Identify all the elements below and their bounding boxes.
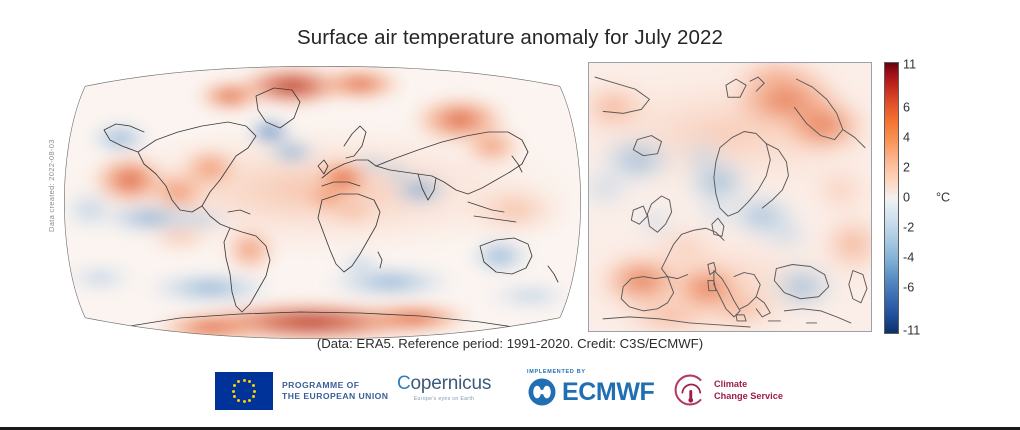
eu-star	[243, 400, 246, 403]
eu-programme-logo: PROGRAMME OF THE EUROPEAN UNION	[215, 372, 388, 410]
eu-flag-icon	[215, 372, 273, 410]
eu-star	[252, 384, 255, 387]
copernicus-name-text: opernicus	[411, 373, 492, 394]
colorbar-gradient	[884, 62, 899, 334]
global-anomaly-map	[60, 60, 585, 345]
eu-star	[237, 380, 240, 383]
colorbar: 116420-2-4-6-11 °C	[884, 62, 1014, 334]
ecmwf-logo: IMPLEMENTED BY ECMWF	[527, 369, 654, 407]
colorbar-unit-label: °C	[936, 192, 950, 205]
eu-star	[237, 399, 240, 402]
europe-anomaly-inset-map	[588, 62, 872, 332]
figure-caption: (Data: ERA5. Reference period: 1991-2020…	[0, 336, 1020, 351]
colorbar-tick-label: 2	[903, 162, 910, 175]
climate-figure: Surface air temperature anomaly for July…	[0, 0, 1020, 430]
eu-star	[233, 395, 236, 398]
logo-strip: PROGRAMME OF THE EUROPEAN UNION Copernic…	[205, 368, 805, 408]
eu-star	[248, 380, 251, 383]
ecmwf-eyebrow: IMPLEMENTED BY	[527, 369, 586, 375]
eu-logo-text: PROGRAMME OF THE EUROPEAN UNION	[282, 380, 388, 403]
colorbar-tick-label: -4	[903, 252, 914, 265]
copernicus-logo: Copernicus Europe's eyes on Earth	[397, 374, 491, 402]
climate-change-service-icon	[673, 373, 707, 407]
colorbar-tick-label: 0	[903, 192, 910, 205]
date-created-stamp: Data created: 2022-08-03	[47, 139, 56, 232]
eu-star	[252, 395, 255, 398]
copernicus-c-glyph: C	[397, 373, 411, 394]
eu-star	[233, 384, 236, 387]
page-title: Surface air temperature anomaly for July…	[0, 26, 1020, 50]
eu-star	[243, 379, 246, 382]
climate-change-service-logo: Climate Change Service	[673, 373, 783, 407]
ecmwf-wordmark: ECMWF	[562, 380, 654, 405]
colorbar-tick-label: -2	[903, 222, 914, 235]
colorbar-tick-label: 11	[903, 58, 916, 71]
eu-logo-line1: PROGRAMME OF	[282, 380, 388, 391]
ecmwf-globe-icon	[527, 377, 557, 407]
eu-star	[248, 399, 251, 402]
colorbar-tick-label: -6	[903, 281, 914, 294]
global-map-canvas	[60, 60, 585, 345]
eu-star	[232, 390, 235, 393]
c3s-logo-line1: Climate	[714, 378, 783, 390]
colorbar-tick-label: 6	[903, 102, 910, 115]
colorbar-tick-label: 4	[903, 132, 910, 145]
eu-logo-line2: THE EUROPEAN UNION	[282, 391, 388, 402]
eu-star	[253, 390, 256, 393]
copernicus-wordmark: Copernicus	[397, 374, 491, 393]
copernicus-tagline: Europe's eyes on Earth	[397, 396, 491, 402]
c3s-logo-line2: Change Service	[714, 390, 783, 402]
c3s-logo-text: Climate Change Service	[714, 378, 783, 403]
europe-map-canvas	[589, 63, 871, 331]
